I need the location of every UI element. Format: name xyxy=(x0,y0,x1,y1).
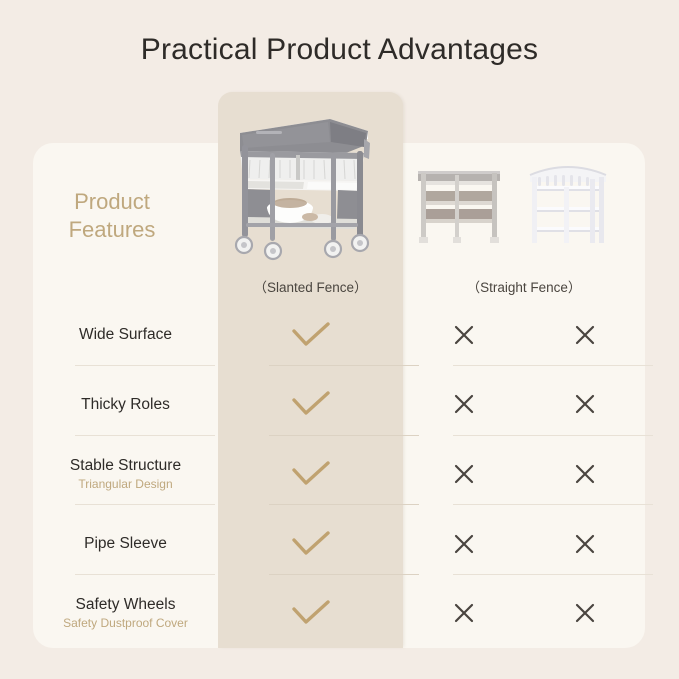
table-row: Stable Structure Triangular Design xyxy=(33,439,645,509)
x-icon xyxy=(453,602,475,624)
rival2-value-cell xyxy=(524,463,645,485)
features-header-line1: Product xyxy=(42,188,182,216)
feature-sublabel: Triangular Design xyxy=(33,477,218,493)
feature-cell: Stable Structure Triangular Design xyxy=(33,456,218,493)
rival1-value-cell xyxy=(403,324,524,346)
x-icon xyxy=(453,463,475,485)
rival2-value-cell xyxy=(524,602,645,624)
table-row: Wide Surface xyxy=(33,300,645,370)
x-icon xyxy=(574,533,596,555)
feature-cell: Safety Wheels Safety Dustproof Cover xyxy=(33,595,218,632)
rival1-value-cell xyxy=(403,393,524,415)
hero-column-caption: （Slanted Fence） xyxy=(218,276,403,296)
feature-label: Pipe Sleeve xyxy=(33,534,218,553)
feature-cell: Pipe Sleeve xyxy=(33,534,218,553)
rival2-value-cell xyxy=(524,533,645,555)
table-row: Safety Wheels Safety Dustproof Cover xyxy=(33,578,645,648)
rival-product-image-2 xyxy=(518,149,618,249)
x-icon xyxy=(453,533,475,555)
hero-value-cell xyxy=(218,529,403,559)
comparison-table: Wide Surface Th xyxy=(33,300,645,648)
hero-value-cell xyxy=(218,389,403,419)
hero-value-cell xyxy=(218,459,403,489)
feature-label: Wide Surface xyxy=(33,325,218,344)
rival1-value-cell xyxy=(403,533,524,555)
feature-label: Stable Structure xyxy=(33,456,218,475)
rival1-value-cell xyxy=(403,602,524,624)
x-icon xyxy=(574,393,596,415)
hero-value-cell xyxy=(218,320,403,350)
rival1-value-cell xyxy=(403,463,524,485)
rival2-value-cell xyxy=(524,393,645,415)
feature-label: Thicky Roles xyxy=(33,395,218,414)
x-icon xyxy=(453,393,475,415)
x-icon xyxy=(574,602,596,624)
check-icon xyxy=(289,320,333,350)
x-icon xyxy=(574,463,596,485)
product-features-header: Product Features xyxy=(42,188,182,243)
hero-value-cell xyxy=(218,598,403,628)
features-header-line2: Features xyxy=(42,216,182,244)
table-row: Thicky Roles xyxy=(33,370,645,440)
rival-product-image-1 xyxy=(408,149,508,249)
check-icon xyxy=(289,598,333,628)
check-icon xyxy=(289,389,333,419)
check-icon xyxy=(289,529,333,559)
rivals-column-caption: （Straight Fence） xyxy=(403,276,645,296)
x-icon xyxy=(453,324,475,346)
feature-cell: Wide Surface xyxy=(33,325,218,344)
rival2-value-cell xyxy=(524,324,645,346)
feature-cell: Thicky Roles xyxy=(33,395,218,414)
feature-sublabel: Safety Dustproof Cover xyxy=(33,616,218,632)
page-title: Practical Product Advantages xyxy=(0,33,679,67)
x-icon xyxy=(574,324,596,346)
feature-label: Safety Wheels xyxy=(33,595,218,614)
hero-product-image xyxy=(218,95,388,263)
check-icon xyxy=(289,459,333,489)
table-row: Pipe Sleeve xyxy=(33,509,645,579)
